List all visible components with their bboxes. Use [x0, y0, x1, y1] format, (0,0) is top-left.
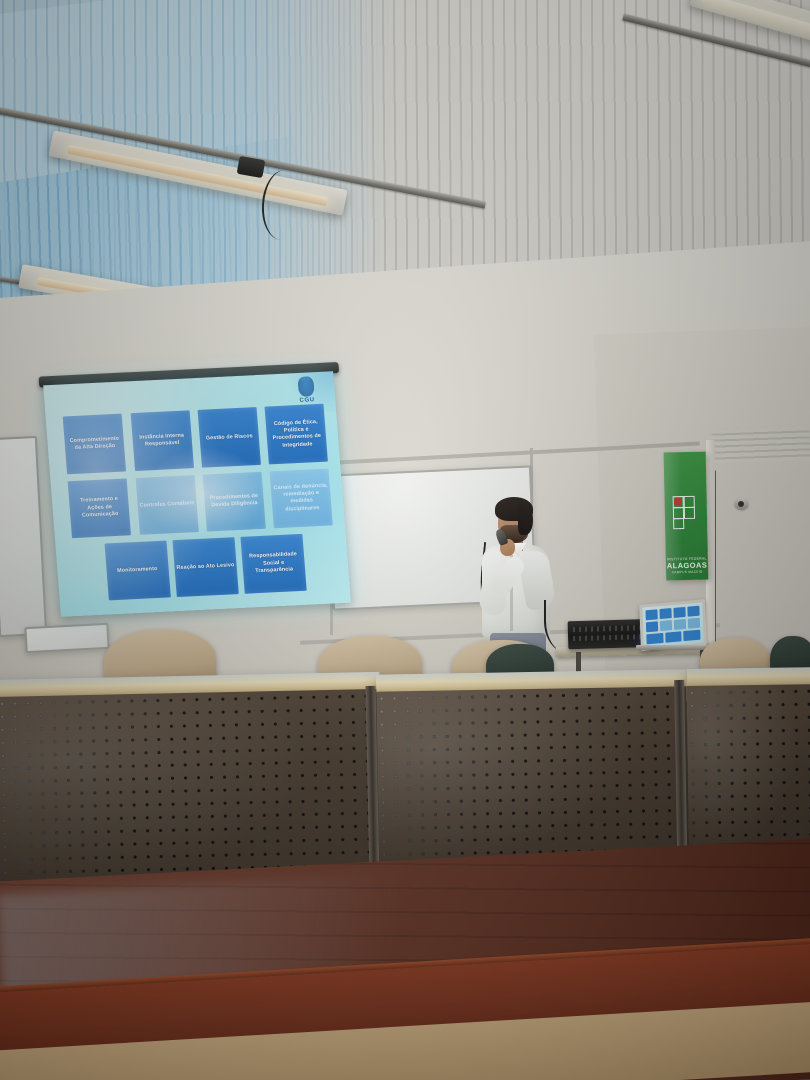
whiteboard-small [24, 623, 109, 653]
presentation-photo: CGU Comprometimento da Alta Direção Inst… [0, 0, 810, 1080]
banner-line-3: CAMPUS MACEIÓ [666, 570, 708, 575]
slide-row-1: Comprometimento da Alta Direção Instânci… [63, 404, 328, 474]
slide-box: Gestão de Riscos [198, 407, 261, 467]
slide-box: Canais de denúncia, remediação e medidas… [270, 468, 333, 528]
slide-box: Instância Interna Responsável [130, 411, 193, 471]
cgu-emblem-icon [297, 376, 315, 397]
slide-pillar-grid: Comprometimento da Alta Direção Instânci… [63, 404, 338, 602]
slide-box: Controles Contábeis [135, 475, 198, 535]
slide-box: Monitoramento [104, 540, 170, 600]
laptop-screen [642, 602, 703, 647]
banner-text: INSTITUTO FEDERAL ALAGOAS CAMPUS MACEIÓ [666, 557, 708, 575]
projection-screen: CGU Comprometimento da Alta Direção Inst… [43, 371, 351, 616]
slide-box: Reação ao Ato Lesivo [172, 537, 238, 597]
security-camera-icon [735, 498, 748, 509]
ifal-banner: INSTITUTO FEDERAL ALAGOAS CAMPUS MACEIÓ [664, 452, 709, 581]
slide-box: Responsabilidade Social e Transparência [241, 533, 307, 593]
slide-box: Procedimentos de Devida Diligência [203, 471, 266, 531]
laptop-lid [639, 599, 706, 651]
slide-row-2: Treinamento e Ações de Comunicação Contr… [68, 468, 333, 538]
presenter-laptop[interactable] [639, 599, 706, 651]
rolling-door [711, 426, 810, 463]
projected-slide: CGU Comprometimento da Alta Direção Inst… [43, 371, 351, 616]
presenter-hair [518, 505, 533, 535]
if-logo-icon [673, 496, 700, 529]
slide-box: Comprometimento da Alta Direção [63, 414, 126, 474]
slide-box: Código de Ética, Política e Procedimento… [265, 404, 328, 464]
slide-row-3: Monitoramento Reação ao Ato Lesivo Respo… [73, 532, 338, 602]
slide-box: Treinamento e Ações de Comunicação [68, 478, 131, 538]
